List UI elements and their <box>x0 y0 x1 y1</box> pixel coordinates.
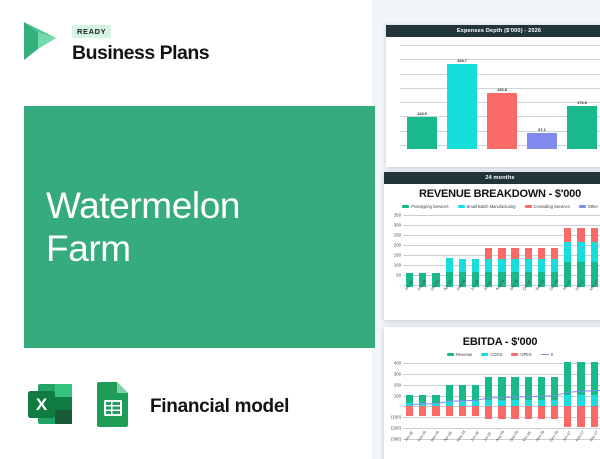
slide-canvas: READY Business Plans Watermelon Farm X <box>0 0 600 459</box>
chart-card-revenue[interactable]: 24 months REVENUE BREAKDOWN - $'000 Prot… <box>384 172 600 320</box>
legend-swatch <box>447 353 454 356</box>
y-tick: 200 <box>394 382 401 387</box>
y-tick: (100) <box>391 415 401 420</box>
ready-badge: READY <box>72 25 111 38</box>
chart-expenses-header: Expenses Depth ($'000) - 2026 <box>386 25 600 37</box>
bar-segment <box>551 248 558 259</box>
svg-text:X: X <box>36 395 48 414</box>
hero-block: Watermelon Farm <box>24 106 375 348</box>
stacked-bar[interactable] <box>485 213 492 287</box>
stacked-bar[interactable] <box>406 213 413 287</box>
bar-series <box>403 213 600 287</box>
legend-item[interactable]: Prototyping Services <box>402 204 449 209</box>
chart-card-ebitda[interactable]: EBITDA - $'000 RevenueCOGSOPEX0 40030020… <box>384 327 600 459</box>
legend-swatch <box>458 205 465 208</box>
stacked-bar[interactable] <box>498 213 505 287</box>
gridline <box>400 59 600 60</box>
y-tick: 350 <box>394 213 401 218</box>
bar-segment <box>511 259 518 272</box>
y-tick: - <box>400 404 401 409</box>
hero-title-line-2: Farm <box>46 227 240 270</box>
chart-revenue-plot: 35030025020015010050- <box>386 213 600 287</box>
bar-segment <box>551 259 558 272</box>
bar[interactable] <box>447 64 477 149</box>
chart-ebitda-legend: RevenueCOGSOPEX0 <box>384 352 600 357</box>
legend-label: Small Batch Manufacturing <box>467 204 516 209</box>
y-tick: 200 <box>394 243 401 248</box>
legend-item[interactable]: Revenue <box>447 352 472 357</box>
stacked-bar[interactable] <box>577 213 584 287</box>
brand-header: READY Business Plans <box>18 18 209 65</box>
legend-swatch <box>541 354 549 355</box>
bar-value-label: 226.8 <box>482 87 522 92</box>
bar-value-label: 348.7 <box>442 58 482 63</box>
bar-segment <box>564 242 571 262</box>
bar-segment <box>485 259 492 272</box>
bar[interactable] <box>487 93 517 149</box>
y-tick: (300) <box>391 437 401 442</box>
stacked-bar[interactable] <box>591 213 598 287</box>
legend-label: Prototyping Services <box>411 204 449 209</box>
y-axis-labels: 400300200100-(100)(200)(300) <box>386 361 403 441</box>
stacked-bar[interactable] <box>525 213 532 287</box>
legend-swatch <box>525 205 532 208</box>
chart-expenses-plot: 128.9348.7226.867.1176.5 <box>392 43 600 151</box>
y-tick: 300 <box>394 371 401 376</box>
stacked-bar[interactable] <box>511 213 518 287</box>
y-tick: 100 <box>394 393 401 398</box>
stacked-bar[interactable] <box>472 213 479 287</box>
chart-ebitda-title: EBITDA - $'000 <box>384 336 600 348</box>
y-tick: 400 <box>394 361 401 366</box>
chart-revenue-xaxis: Jan-26Feb-26Mar-26Apr-26May-26Jun-26Jul-… <box>403 289 600 293</box>
bar-segment <box>498 248 505 259</box>
stacked-bar[interactable] <box>446 213 453 287</box>
bar-segment <box>446 258 453 272</box>
stacked-bar[interactable] <box>459 213 466 287</box>
gridline <box>400 74 600 75</box>
y-tick: 150 <box>394 253 401 258</box>
chart-ebitda-plot: 400300200100-(100)(200)(300) <box>386 361 600 441</box>
legend-label: COGS <box>490 352 502 357</box>
legend-item[interactable]: Small Batch Manufacturing <box>458 204 516 209</box>
footer-row: X Financial model <box>24 378 289 435</box>
bar-segment <box>498 259 505 272</box>
y-tick: (200) <box>391 426 401 431</box>
bar-segment <box>577 228 584 242</box>
brand-text: READY Business Plans <box>72 18 209 65</box>
page-title: Watermelon Farm <box>46 184 240 271</box>
legend-label: Consulting Services <box>534 204 570 209</box>
legend-swatch <box>402 205 409 208</box>
stacked-bar[interactable] <box>538 213 545 287</box>
bar[interactable] <box>567 106 597 149</box>
chart-revenue-legend: Prototyping ServicesSmall Batch Manufact… <box>384 204 600 209</box>
chart-revenue-header: 24 months <box>384 172 600 184</box>
legend-item[interactable]: 0 <box>541 352 553 357</box>
chart-ebitda-xaxis: Jan-26Feb-26Mar-26Apr-26May-26Jun-26Jul-… <box>403 440 600 444</box>
bar-value-label: 176.5 <box>562 100 600 105</box>
legend-swatch <box>511 353 518 356</box>
legend-item[interactable]: Other <box>579 204 598 209</box>
legend-swatch <box>579 205 586 208</box>
stacked-bar[interactable] <box>551 213 558 287</box>
legend-item[interactable]: OPEX <box>511 352 531 357</box>
bar-segment <box>538 248 545 259</box>
y-tick: 250 <box>394 233 401 238</box>
stacked-bar[interactable] <box>564 213 571 287</box>
legend-label: OPEX <box>520 352 531 357</box>
bar-value-label: 128.9 <box>402 111 442 116</box>
bar-segment <box>591 228 598 242</box>
bar-segment <box>564 228 571 242</box>
y-tick: 50 <box>396 273 401 278</box>
chart-revenue-title: REVENUE BREAKDOWN - $'000 <box>384 188 600 200</box>
bar-segment <box>485 248 492 259</box>
legend-label: Other <box>588 204 598 209</box>
bar-segment <box>511 248 518 259</box>
bar-segment <box>459 259 466 272</box>
bar-segment <box>577 242 584 262</box>
y-axis-labels: 35030025020015010050- <box>386 213 403 287</box>
footer-label: Financial model <box>150 396 289 418</box>
legend-item[interactable]: Consulting Services <box>525 204 570 209</box>
bar[interactable] <box>527 133 557 149</box>
legend-label: Revenue <box>456 352 472 357</box>
bar-segment <box>591 242 598 262</box>
legend-item[interactable]: COGS <box>481 352 502 357</box>
y-tick: 300 <box>394 223 401 228</box>
stacked-bar[interactable] <box>432 213 439 287</box>
bar-value-label: 67.1 <box>522 127 562 132</box>
bar-segment <box>525 259 532 272</box>
gridline <box>400 45 600 46</box>
bar[interactable] <box>407 117 437 149</box>
stacked-bar[interactable] <box>419 213 426 287</box>
bar-segment <box>472 259 479 272</box>
legend-label: 0 <box>551 352 553 357</box>
bar-segment <box>525 248 532 259</box>
microsoft-excel-icon: X <box>24 378 76 435</box>
google-sheets-icon <box>90 378 136 435</box>
brand-title: Business Plans <box>72 42 209 65</box>
chart-card-expenses[interactable]: Expenses Depth ($'000) - 2026 128.9348.7… <box>386 25 600 167</box>
bar-segment <box>538 259 545 272</box>
hero-title-line-1: Watermelon <box>46 184 240 227</box>
legend-swatch <box>481 353 488 356</box>
y-tick: 100 <box>394 263 401 268</box>
y-tick: - <box>400 283 401 288</box>
play-arrow-logo-icon <box>18 18 62 64</box>
